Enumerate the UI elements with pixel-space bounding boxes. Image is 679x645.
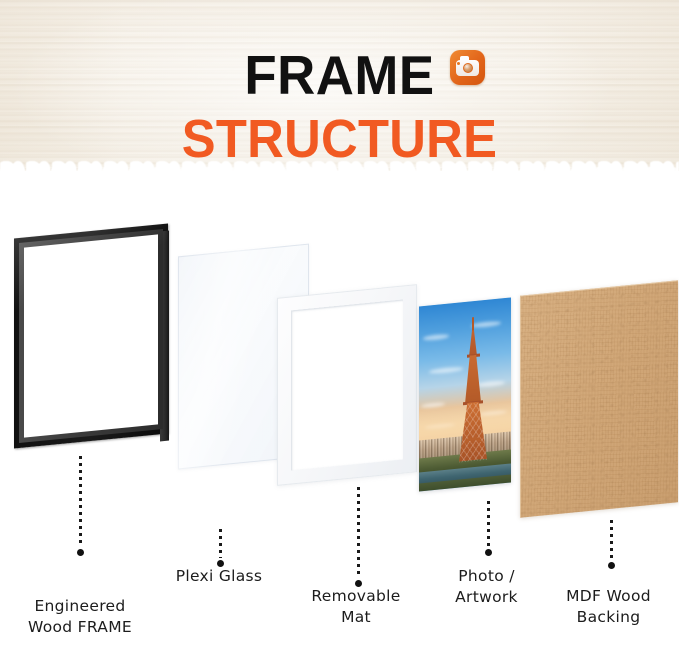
leader-line-plexi xyxy=(219,529,222,558)
eiffel-spire xyxy=(472,317,474,331)
leader-line-mat xyxy=(357,487,360,577)
label-line-1: Plexi Glass xyxy=(139,566,299,587)
layer-mdf-wood-backing[interactable] xyxy=(520,280,678,517)
leader-line-backing xyxy=(610,520,613,560)
leader-line-photo xyxy=(487,501,490,547)
label-line-1: MDF Wood xyxy=(531,586,679,607)
eiffel-arch xyxy=(462,436,484,462)
eiffel-middle-section xyxy=(465,354,481,404)
label-mdf-wood-backing: MDF Wood Backing xyxy=(531,586,679,628)
label-engineered-wood-frame: Engineered Wood FRAME xyxy=(0,596,160,638)
leader-dot-frame xyxy=(77,549,84,556)
camera-icon xyxy=(450,50,485,85)
header-banner: FRAME STRUCTURE xyxy=(0,0,679,190)
diagram-area: Engineered Wood FRAME Plexi Glass Remova… xyxy=(0,190,679,645)
page-title-primary: FRAME xyxy=(14,46,666,104)
camera-flash xyxy=(457,62,460,65)
frame-opening xyxy=(24,234,158,437)
label-line-2: Backing xyxy=(531,607,679,628)
eiffel-tower-icon xyxy=(457,316,489,469)
label-line-1: Photo / xyxy=(409,566,564,587)
leader-line-frame xyxy=(79,456,82,546)
infographic-stage: FRAME STRUCTURE xyxy=(0,0,679,645)
label-line-2: Wood FRAME xyxy=(0,617,160,638)
camera-lens xyxy=(463,63,473,73)
leader-dot-backing xyxy=(608,562,615,569)
label-line-1: Engineered xyxy=(0,596,160,617)
eiffel-top-section xyxy=(469,330,477,357)
torn-paper-base xyxy=(0,171,679,190)
label-line-2: Mat xyxy=(276,607,436,628)
layer-photo-artwork[interactable] xyxy=(419,297,511,491)
label-plexi-glass: Plexi Glass xyxy=(139,566,299,587)
mat-window-bevel xyxy=(291,300,403,471)
leader-dot-photo xyxy=(485,549,492,556)
